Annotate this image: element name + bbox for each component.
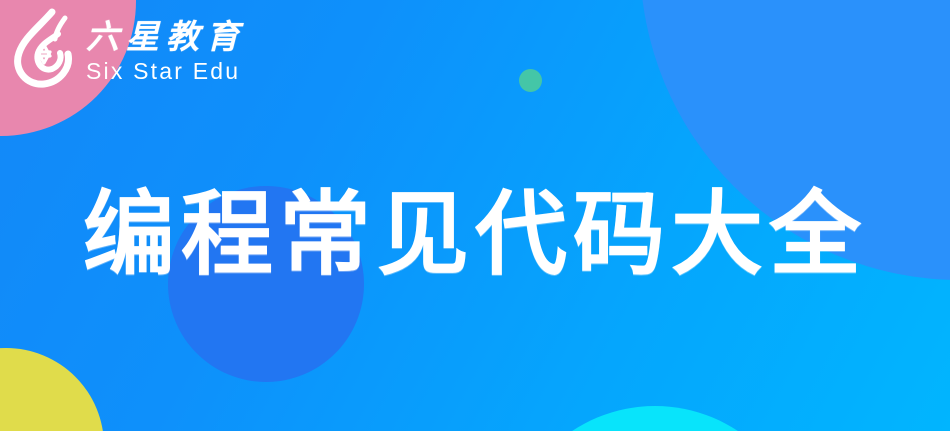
brand-logo[interactable]: 六星教育 Six Star Edu <box>8 8 246 92</box>
decor-circle-cyan <box>505 406 805 431</box>
brand-name-cn: 六星教育 <box>86 19 246 56</box>
brand-text: 六星教育 Six Star Edu <box>86 15 246 86</box>
brand-name-en: Six Star Edu <box>86 58 246 86</box>
banner-headline: 编程常见代码大全 <box>0 185 950 284</box>
six-star-swirl-logo-icon <box>8 8 82 92</box>
decor-circle-yellow <box>0 348 104 431</box>
decor-dot-teal <box>519 69 542 92</box>
course-banner: 六星教育 Six Star Edu 编程常见代码大全 <box>0 0 950 431</box>
